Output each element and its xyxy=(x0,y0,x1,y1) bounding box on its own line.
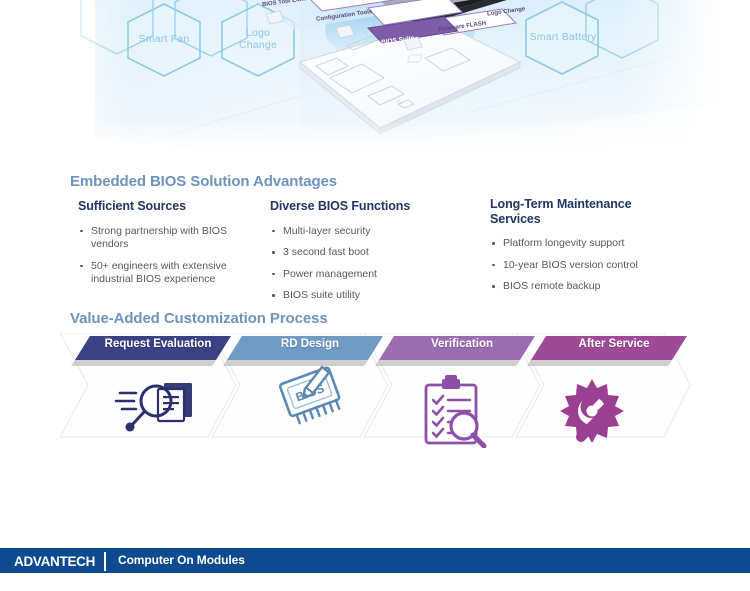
footer-bar: ADVANTECH Computer On Modules xyxy=(0,548,750,574)
footer-title: Computer On Modules xyxy=(118,553,245,567)
hex-label-smart-battery: Smart Battery xyxy=(520,31,606,43)
column-heading: Sufficient Sources xyxy=(78,199,258,214)
column-heading: Long-Term Maintenance Services xyxy=(490,197,675,226)
list-item: Power management xyxy=(270,268,470,282)
hero-right-fade xyxy=(620,0,750,162)
list-item: 3 second fast boot xyxy=(270,246,470,260)
list-item: Platform longevity support xyxy=(490,237,675,251)
list-item: Multi-layer security xyxy=(270,225,470,239)
footer-divider xyxy=(104,552,106,571)
list-item: BIOS suite utility xyxy=(270,289,470,303)
advantage-column-long-term-maintenance-services: Long-Term Maintenance Services Platform … xyxy=(490,197,675,302)
process-step-label-verification[interactable]: Verification xyxy=(397,338,527,350)
advantages-section-title: Embedded BIOS Solution Advantages xyxy=(70,173,337,190)
footer-bottom-strip xyxy=(0,573,750,591)
list-item: 10-year BIOS version control xyxy=(490,259,675,273)
hex-label-logo-change-line2: Change xyxy=(220,39,296,51)
process-step-label-request-evaluation[interactable]: Request Evaluation xyxy=(93,338,223,350)
advantage-column-sufficient-sources: Sufficient Sources Strong partnership wi… xyxy=(78,199,258,295)
advantech-logo-text: ADVANTECH xyxy=(14,554,95,569)
list-item: BIOS remote backup xyxy=(490,280,675,294)
advantage-list: Multi-layer security 3 second fast boot … xyxy=(270,225,470,303)
list-item: 50+ engineers with extensive industrial … xyxy=(78,260,258,287)
process-step-label-after-service[interactable]: After Service xyxy=(549,338,679,350)
clipboard-checklist-magnifier-icon xyxy=(426,375,484,446)
list-item: Strong partnership with BIOS vendors xyxy=(78,225,258,252)
customization-process: BIOS xyxy=(60,333,690,448)
process-chevrons: BIOS xyxy=(60,333,690,448)
advantage-list: Platform longevity support 10-year BIOS … xyxy=(490,237,675,294)
hex-label-smart-fan: Smart Fan xyxy=(124,33,204,45)
advantech-logo[interactable]: ADVANTECH xyxy=(8,552,101,571)
hero-left-fade xyxy=(0,0,130,162)
hero-banner: Smart Fan Logo Change Smart Battery BIOS… xyxy=(0,0,750,162)
process-step-label-rd-design[interactable]: RD Design xyxy=(245,338,375,350)
hex-label-logo-change-line1: Logo xyxy=(220,27,296,39)
process-section-title: Value-Added Customization Process xyxy=(70,310,328,327)
advantage-list: Strong partnership with BIOS vendors 50+… xyxy=(78,225,258,287)
advantage-column-diverse-bios-functions: Diverse BIOS Functions Multi-layer secur… xyxy=(270,199,470,311)
column-heading: Diverse BIOS Functions xyxy=(270,199,470,214)
